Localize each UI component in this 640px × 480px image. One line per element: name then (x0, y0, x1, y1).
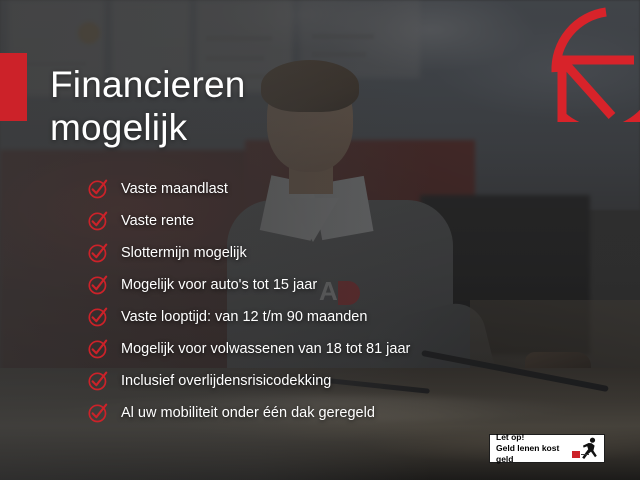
feature-list: Vaste maandlastVaste renteSlottermijn mo… (47, 173, 607, 429)
check-circle-icon (87, 210, 109, 232)
page-title: Financieren mogelijk (50, 63, 480, 149)
headline-line-2: mogelijk (50, 106, 480, 149)
list-item: Mogelijk voor auto's tot 15 jaar (87, 269, 607, 301)
check-circle-icon (87, 402, 109, 424)
status-badge: Let op! Geld lenen kost geld (489, 434, 605, 463)
check-circle-icon (87, 338, 109, 360)
check-circle-icon (87, 306, 109, 328)
red-arc-arrow-logo (546, 4, 640, 122)
feature-label: Mogelijk voor auto's tot 15 jaar (121, 277, 317, 293)
warning-line-1: Let op! (496, 432, 580, 443)
feature-label: Mogelijk voor volwassenen van 18 tot 81 … (121, 341, 410, 357)
walking-man-icon (580, 437, 600, 461)
feature-label: Vaste rente (121, 213, 194, 229)
check-circle-icon (87, 370, 109, 392)
walking-man-glyph (580, 437, 600, 461)
headline-line-1: Financieren (50, 64, 246, 105)
list-item: Al uw mobiliteit onder één dak geregeld (87, 397, 607, 429)
warning-badge-text: Let op! Geld lenen kost geld (496, 432, 580, 465)
red-weight-icon (572, 451, 580, 458)
warning-line-2-row: Geld lenen kost geld (496, 443, 580, 465)
check-circle-icon (87, 274, 109, 296)
list-item: Vaste looptijd: van 12 t/m 90 maanden (87, 301, 607, 333)
feature-label: Slottermijn mogelijk (121, 245, 247, 261)
list-item: Inclusief overlijdensrisicodekking (87, 365, 607, 397)
check-circle-icon (87, 242, 109, 264)
list-item: Vaste maandlast (87, 173, 607, 205)
feature-label: Vaste maandlast (121, 181, 228, 197)
financing-promo-banner: A Financieren mogelijk Vaste maandlastVa… (0, 0, 640, 480)
list-item: Vaste rente (87, 205, 607, 237)
list-item: Mogelijk voor volwassenen van 18 tot 81 … (87, 333, 607, 365)
red-arc-arrow-icon (546, 4, 640, 122)
list-item: Slottermijn mogelijk (87, 237, 607, 269)
feature-label: Vaste looptijd: van 12 t/m 90 maanden (121, 309, 367, 325)
warning-line-2: Geld lenen kost geld (496, 443, 569, 465)
red-accent-bar (0, 53, 27, 121)
check-circle-icon (87, 178, 109, 200)
feature-label: Al uw mobiliteit onder één dak geregeld (121, 405, 375, 421)
feature-label: Inclusief overlijdensrisicodekking (121, 373, 331, 389)
